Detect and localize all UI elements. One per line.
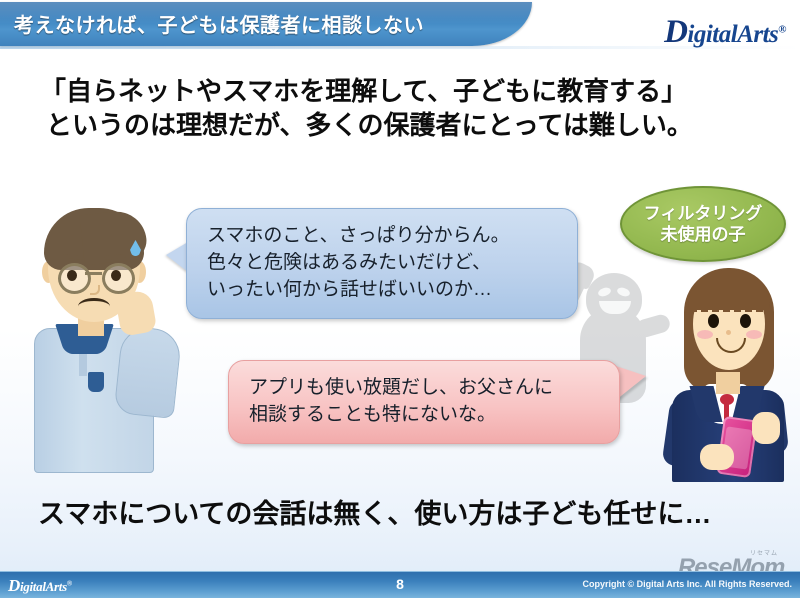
badge-line-1: フィルタリング xyxy=(644,203,763,224)
girl-illustration xyxy=(660,262,800,480)
logo-wordmark: igitalArts xyxy=(687,21,778,48)
copyright-notice: Copyright © Digital Arts Inc. All Rights… xyxy=(583,579,793,589)
headline-line-1: 「自らネットやスマホを理解して、子どもに教育する」 xyxy=(40,76,687,106)
shadow-head xyxy=(586,273,642,325)
logo-initial: D xyxy=(664,14,687,50)
speech-bubble-child-tail xyxy=(616,366,646,400)
girl-hand-right xyxy=(752,412,780,444)
speech-bubble-child: アプリも使い放題だし、お父さんに 相談することも特にないな。 xyxy=(228,360,620,444)
speech-bubble-parent: スマホのこと、さっぱり分からん。 色々と危険はあるみたいだけど、 いったい何から… xyxy=(186,208,578,319)
slide-title: 考えなければ、子どもは保護者に相談しない xyxy=(14,9,494,38)
girl-neck xyxy=(716,372,740,394)
slide-footer: DigitalArts® 8 Copyright © Digital Arts … xyxy=(0,571,800,598)
father-hand xyxy=(115,289,158,337)
father-eye-left xyxy=(67,270,77,281)
girl-eye-right xyxy=(740,314,751,328)
father-shirt-pocket xyxy=(88,372,104,392)
girl-bang-fringe xyxy=(690,300,768,312)
filtering-unused-badge: フィルタリング 未使用の子 xyxy=(620,186,786,262)
girl-blush-right xyxy=(746,330,762,339)
girl-nose xyxy=(726,330,731,335)
speech-bubble-parent-tail xyxy=(166,242,188,272)
headline-line-2: というのは理想だが、多くの保護者にとっては難しい。 xyxy=(46,108,770,142)
father-eye-right xyxy=(111,270,121,281)
badge-line-2: 未使用の子 xyxy=(661,224,746,245)
father-frown-mouth xyxy=(78,298,110,315)
glasses-bridge xyxy=(85,272,102,275)
girl-hand-left xyxy=(700,444,734,470)
conclusion-text: スマホについての会話は無く、使い方は子ども任せに… xyxy=(38,492,778,531)
registered-mark: ® xyxy=(778,24,786,36)
girl-blush-left xyxy=(697,330,713,339)
girl-eye-left xyxy=(708,314,719,328)
father-arm xyxy=(114,325,183,419)
father-illustration xyxy=(22,206,182,471)
digital-arts-logo: DigitalArts® xyxy=(664,14,786,51)
slide-canvas: 考えなければ、子どもは保護者に相談しない DigitalArts® 「自らネット… xyxy=(0,0,800,598)
headline-block: 「自らネットやスマホを理解して、子どもに教育する」 というのは理想だが、多くの保… xyxy=(40,74,770,143)
speech-bubble-child-text: アプリも使い放題だし、お父さんに 相談することも特にないな。 xyxy=(228,360,620,444)
speech-bubble-parent-text: スマホのこと、さっぱり分からん。 色々と危険はあるみたいだけど、 いったい何から… xyxy=(186,208,578,319)
slide-title-bar: 考えなければ、子どもは保護者に相談しない xyxy=(0,2,532,46)
